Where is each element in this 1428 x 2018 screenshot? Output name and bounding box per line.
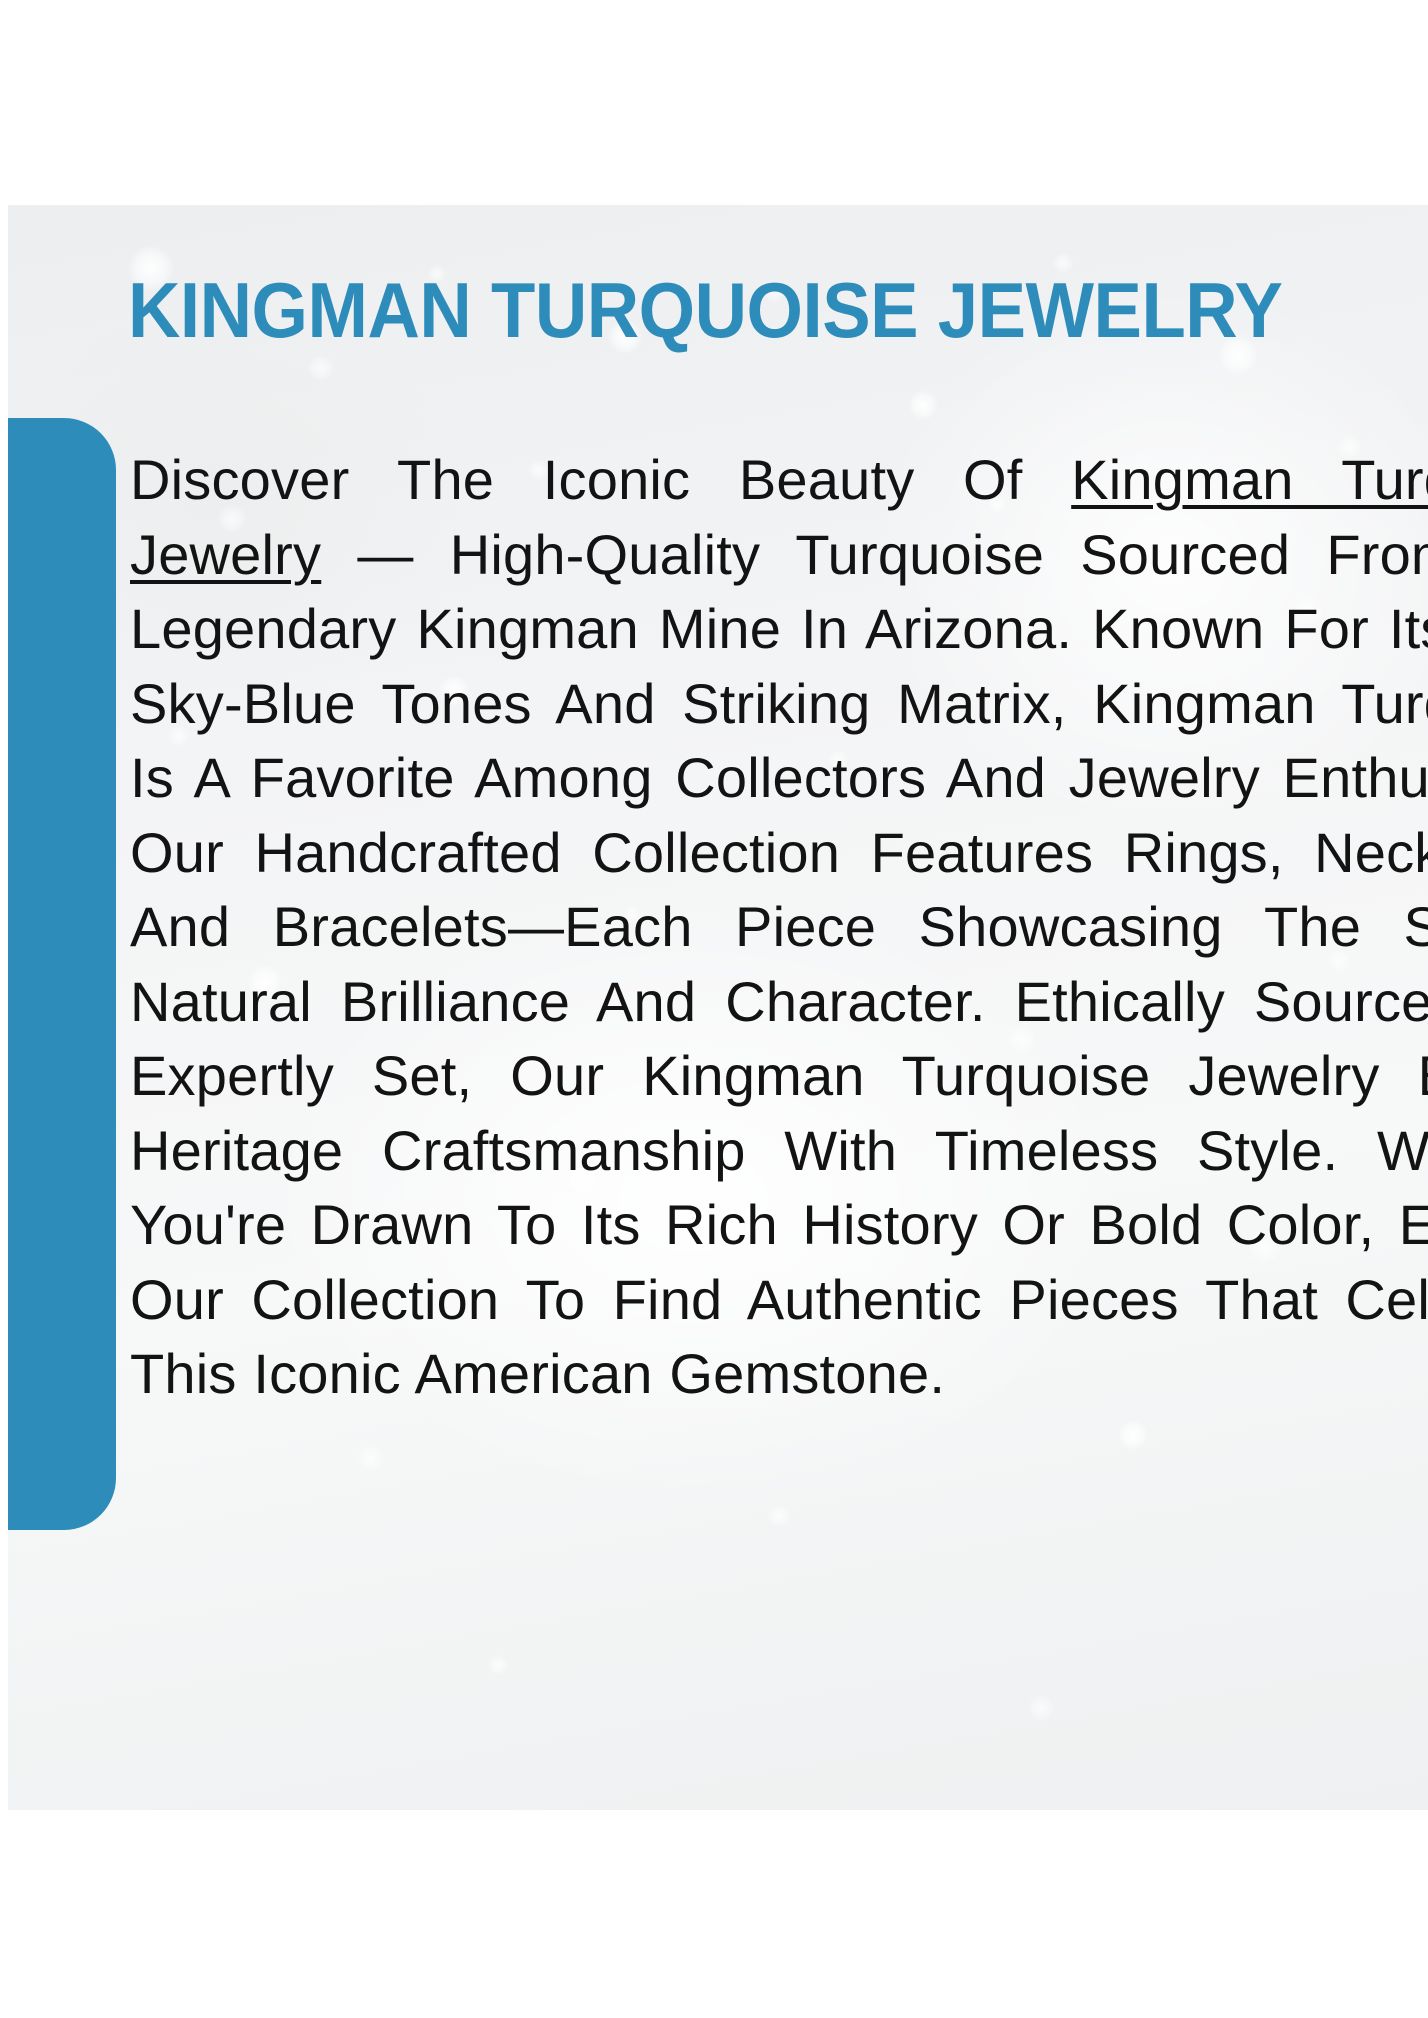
page-stage: KINGMAN TURQUOISE JEWELRY Discover The I… (0, 0, 1428, 2018)
body-paragraph: Discover The Iconic Beauty Of Kingman Tu… (130, 443, 1428, 1412)
content-card: KINGMAN TURQUOISE JEWELRY Discover The I… (8, 205, 1428, 1810)
blue-accent-bar (8, 418, 116, 1530)
body-text-after-link: — High-Quality Turquoise Sourced From Th… (130, 523, 1428, 1406)
page-title: KINGMAN TURQUOISE JEWELRY (128, 267, 1428, 353)
body-text-before-link: Discover The Iconic Beauty Of (130, 448, 1071, 511)
card-inner-column: KINGMAN TURQUOISE JEWELRY Discover The I… (128, 205, 1428, 1810)
